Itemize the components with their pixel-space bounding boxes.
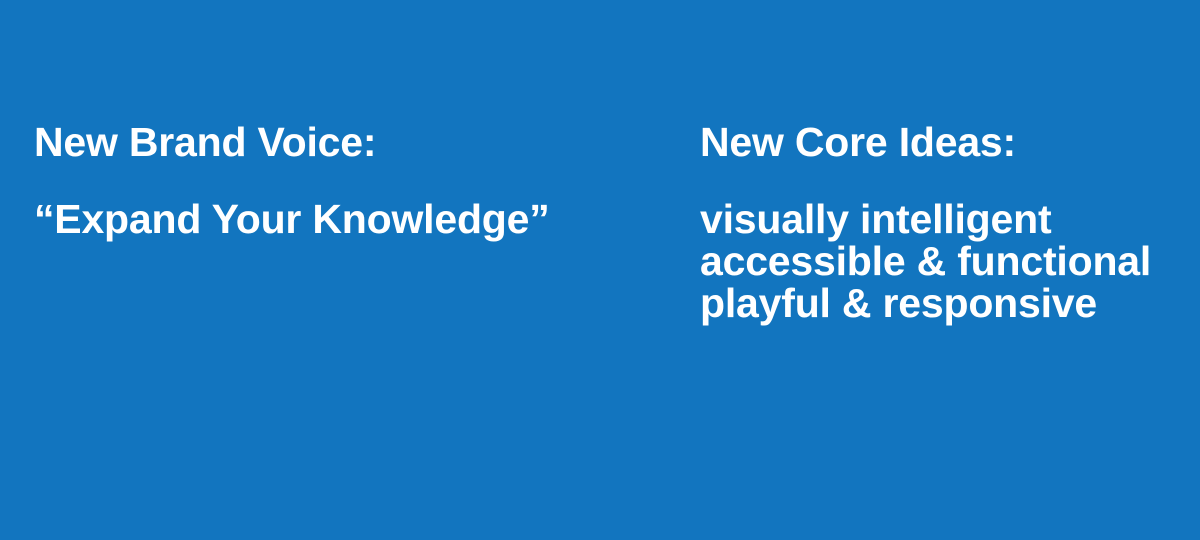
core-ideas-list: visually intelligent accessible & functi… — [700, 198, 1151, 324]
brand-voice-heading: New Brand Voice: — [34, 118, 376, 166]
slide-canvas: New Brand Voice: “Expand Your Knowledge”… — [0, 0, 1200, 540]
core-idea-item: visually intelligent — [700, 198, 1151, 240]
core-idea-item: accessible & functional — [700, 240, 1151, 282]
core-ideas-heading: New Core Ideas: — [700, 118, 1016, 166]
brand-voice-quote: “Expand Your Knowledge” — [34, 198, 550, 240]
core-idea-item: playful & responsive — [700, 282, 1151, 324]
